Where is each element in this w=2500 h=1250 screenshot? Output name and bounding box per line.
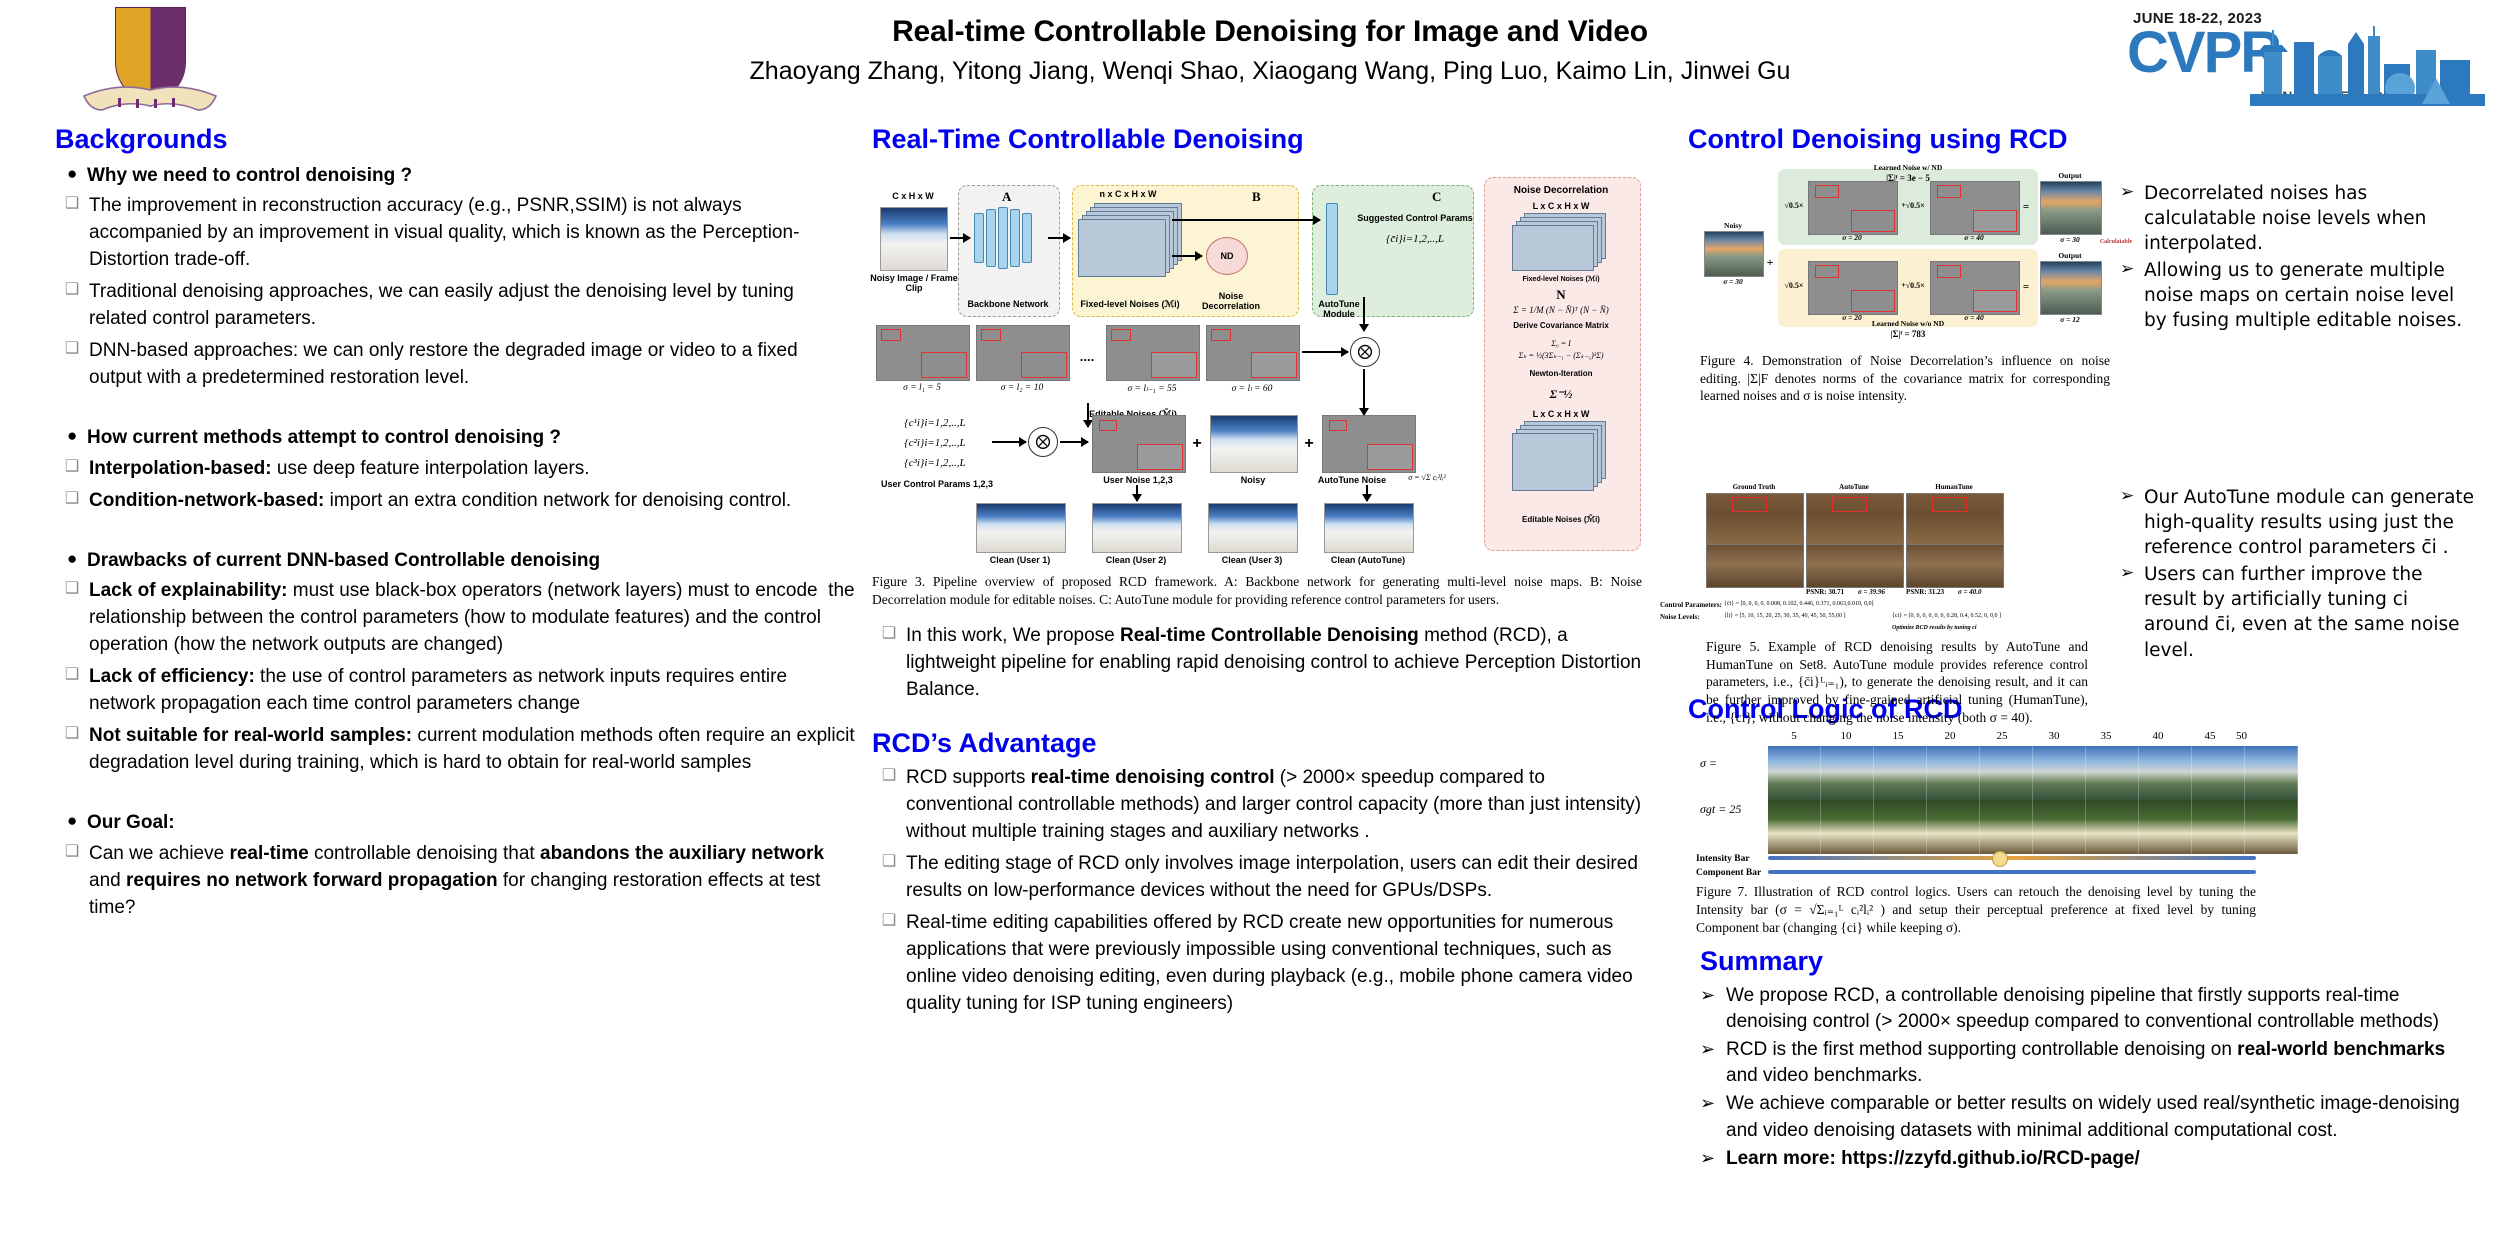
square-marker-icon: ❑ bbox=[55, 578, 89, 601]
decorr-input-stack-icon bbox=[1512, 213, 1612, 271]
item-bold-prefix: Lack of explainability: bbox=[89, 580, 288, 601]
noisy-label: Noisy bbox=[1210, 475, 1296, 485]
clean-output-3 bbox=[1208, 503, 1298, 553]
spacer bbox=[872, 608, 1642, 618]
arrow-noise-to-mult bbox=[1302, 351, 1348, 353]
noise-sample-3 bbox=[1106, 325, 1200, 381]
user-param-2: {c²i}i=1,2,..,L bbox=[880, 437, 990, 449]
fig5-psnr-humantune: PSNR: 31.23 bbox=[1906, 588, 1944, 596]
plus-icon-2: + bbox=[1302, 435, 1316, 453]
fixed-noise-label: Fixed-level Noises (ℳi) bbox=[1070, 299, 1190, 310]
fig5-tractor-gt bbox=[1706, 493, 1804, 545]
figure-4-noise-decorrelation: Learned Noise w/ ND |Σ|ᶠ = 3e − 5 Learne… bbox=[1700, 161, 2130, 339]
list-item-text: In this work, We propose Real-time Contr… bbox=[906, 623, 1642, 704]
cvpr-logo: JUNE 18-22, 2023 CVPR VANCOUVER, CANADA bbox=[2125, 8, 2485, 118]
fig7-mush-cell bbox=[1874, 800, 1927, 854]
fig7-tick-7: 40 bbox=[2132, 730, 2184, 742]
fig7-sigma-label: σ = bbox=[1700, 756, 1717, 771]
section-heading-advantage: RCD’s Advantage bbox=[872, 729, 1642, 759]
noise-sample-2 bbox=[976, 325, 1070, 381]
fig4-sigma40-top: σ = 40 bbox=[1930, 233, 2018, 242]
title-block: Real-time Controllable Denoising for Ima… bbox=[560, 14, 1980, 87]
list-item-text: Decorrelated noises has calculatable noi… bbox=[2144, 181, 2476, 256]
fig5-control-params-value: {c̄i} = [0, 0, 0, 0, 0.008, 0.102, 0.446… bbox=[1724, 601, 1873, 607]
arrow-mult-down bbox=[1363, 369, 1365, 415]
fig4-output-label-bottom: Output bbox=[2040, 251, 2100, 260]
intensity-slider-track[interactable] bbox=[1768, 856, 2256, 860]
arrow-user-to-clean bbox=[1136, 485, 1138, 501]
fig5-human-params-value: {ci} = [0, 0, 0, 0, 0, 0, 0.28, 0.4, 0.5… bbox=[1892, 613, 2001, 619]
list-item-text: Our AutoTune module can generate high-qu… bbox=[2144, 485, 2476, 560]
cuhk-crest-logo bbox=[58, 4, 243, 119]
decorr-step-4: Σ₀ = I bbox=[1486, 339, 1636, 348]
clean-label-2: Clean (User 2) bbox=[1092, 555, 1180, 565]
list-item: ❑ RCD supports real-time denoising contr… bbox=[872, 765, 1642, 846]
input-dim-label: C x H x W bbox=[878, 191, 948, 201]
fig4-coef-right-bottom: +√0.5× bbox=[1896, 281, 1930, 290]
goal-bold-2: abandons the auxiliary network bbox=[540, 843, 824, 864]
block-a-letter: A bbox=[1002, 189, 1011, 205]
list-item: ❑ Interpolation-based: use deep feature … bbox=[55, 456, 855, 483]
fig7-house-cell bbox=[2192, 746, 2245, 800]
section-heading-backgrounds: Backgrounds bbox=[55, 125, 855, 155]
page-title: Real-time Controllable Denoising for Ima… bbox=[560, 14, 1980, 50]
poster-root: Real-time Controllable Denoising for Ima… bbox=[0, 0, 2500, 1250]
list-item-text: Lack of efficiency: the use of control p… bbox=[89, 664, 855, 718]
sigma-label-2: σ = l₂ = 10 bbox=[976, 383, 1068, 393]
list-item-text: Condition-network-based: import an extra… bbox=[89, 488, 791, 515]
section-heading-control-denoising: Control Denoising using RCD bbox=[1688, 125, 2478, 155]
dot-marker-icon: ● bbox=[67, 548, 87, 571]
backbone-label: Backbone Network bbox=[960, 299, 1056, 309]
fig4-output-label-top: Output bbox=[2040, 171, 2100, 180]
figure4-and-notes: Learned Noise w/ ND |Σ|ᶠ = 3e − 5 Learne… bbox=[1688, 161, 2478, 481]
arrow-backbone-to-noise bbox=[1048, 237, 1070, 239]
decorr-dim: L x C x H x W bbox=[1486, 201, 1636, 211]
fig7-house-strip bbox=[1768, 746, 2298, 800]
multiply-icon-user: ⨂ bbox=[1028, 427, 1058, 457]
fig4-coef-left-top: √0.5× bbox=[1780, 201, 1808, 210]
figure-7-control-logic: σ = σgt = 25 5 10 15 20 25 30 35 40 45 5… bbox=[1696, 730, 2256, 878]
sigma-label-1: σ = l₁ = 5 bbox=[876, 383, 968, 393]
sigma-label-3: σ = lₗ₋₁ = 55 bbox=[1106, 383, 1198, 394]
bullet-lead: ● How current methods attempt to control… bbox=[67, 425, 855, 451]
bullet-lead-text: Our Goal: bbox=[87, 810, 175, 836]
item-bold-prefix: Condition-network-based: bbox=[89, 490, 324, 511]
fig7-mush-cell bbox=[1927, 800, 1980, 854]
dot-marker-icon: ● bbox=[67, 810, 87, 833]
fig4-plus-icon: + bbox=[1764, 255, 1776, 270]
fig5-crop-autotune bbox=[1806, 544, 1904, 588]
arrow-marker-icon: ➢ bbox=[2120, 485, 2144, 508]
fig5-noise-levels-label: Noise Levels: bbox=[1660, 613, 1699, 621]
list-item: ➢ Our AutoTune module can generate high-… bbox=[2120, 485, 2476, 560]
decorr-step-0: Fixed-level Noises (ℳi) bbox=[1486, 275, 1636, 283]
fig4-output-bottom bbox=[2040, 261, 2102, 315]
input-label: Noisy Image / Frame Clip bbox=[868, 273, 960, 293]
list-item: ➢ We propose RCD, a controllable denoisi… bbox=[1700, 983, 2478, 1035]
list-item: ❑ Traditional denoising approaches, we c… bbox=[55, 279, 855, 333]
square-marker-icon: ❑ bbox=[55, 723, 89, 746]
fig4-sigma20-top: σ = 20 bbox=[1808, 233, 1896, 242]
square-marker-icon: ❑ bbox=[55, 338, 89, 361]
nd-circle-icon: ND bbox=[1206, 237, 1248, 275]
fig7-mush-cell bbox=[1821, 800, 1874, 854]
list-item-text: Traditional denoising approaches, we can… bbox=[89, 279, 855, 333]
list-item-text: We propose RCD, a controllable denoising… bbox=[1726, 983, 2478, 1035]
list-item-text: The improvement in reconstruction accura… bbox=[89, 193, 855, 274]
noise-dim-label: n x C x H x W bbox=[1078, 189, 1178, 199]
list-item: ❑ Condition-network-based: import an ext… bbox=[55, 488, 855, 515]
goal-bold-1: real-time bbox=[229, 843, 308, 864]
arrow-autotune-to-clean bbox=[1366, 485, 1368, 501]
square-marker-icon: ❑ bbox=[55, 193, 89, 216]
arrow-editable-down bbox=[1087, 403, 1089, 427]
fig7-tick-4: 25 bbox=[1976, 730, 2028, 742]
arrow-mult-to-usernoise bbox=[1060, 441, 1088, 443]
figure-5-caption: Figure 5. Example of RCD denoising resul… bbox=[1706, 638, 2088, 727]
fig4-top-title: Learned Noise w/ ND bbox=[1778, 163, 2038, 172]
column-results: Control Denoising using RCD Learned Nois… bbox=[1688, 125, 2478, 1174]
square-marker-icon: ❑ bbox=[55, 456, 89, 479]
figure-4-caption: Figure 4. Demonstration of Noise Decorre… bbox=[1700, 352, 2110, 405]
arrow-marker-icon: ➢ bbox=[1700, 1146, 1726, 1171]
fig7-mush-cell bbox=[2192, 800, 2245, 854]
decorr-output-stack-icon bbox=[1512, 421, 1612, 493]
bullet-lead: ● Drawbacks of current DNN-based Control… bbox=[67, 548, 855, 574]
fig5-psnr-autotune: PSNR: 30.71 bbox=[1806, 588, 1844, 596]
arrow-marker-icon: ➢ bbox=[2120, 258, 2144, 281]
fig4-coef-left-bottom: √0.5× bbox=[1780, 281, 1808, 290]
fig4-coef-right-top: +√0.5× bbox=[1896, 201, 1930, 210]
fig7-house-cell bbox=[2086, 746, 2139, 800]
backbone-network-icon bbox=[972, 207, 1042, 269]
decorr-step-5: Σₖ = ½(3Σₖ₋₁ − (Σₖ₋₁)³Σ) bbox=[1482, 351, 1640, 360]
list-item: ❑ Lack of explainability: must use black… bbox=[55, 578, 855, 659]
fig5-col-label-2: AutoTune bbox=[1806, 483, 1902, 491]
fixed-noise-stack-icon bbox=[1078, 203, 1188, 275]
item-bold-prefix: Interpolation-based: bbox=[89, 458, 272, 479]
bullet-lead: ● Our Goal: bbox=[67, 810, 855, 836]
bullet-lead: ● Why we need to control denoising ? bbox=[67, 163, 855, 189]
list-item-text: DNN-based approaches: we can only restor… bbox=[89, 338, 855, 392]
fig4-output-top bbox=[2040, 181, 2102, 235]
fig7-tick-2: 15 bbox=[1872, 730, 1924, 742]
fig7-house-cell bbox=[2245, 746, 2298, 800]
goal-bold-3: requires no network forward propagation bbox=[126, 870, 498, 891]
decorr-step-8: L x C x H x W bbox=[1486, 409, 1636, 419]
list-item-learn-more[interactable]: ➢ Learn more: https://zzyfd.github.io/RC… bbox=[1700, 1146, 2478, 1172]
decorr-step-3: Derive Covariance Matrix bbox=[1486, 321, 1636, 330]
fig5-control-params-label: Control Parameters: bbox=[1660, 601, 1722, 609]
user-param-3: {c³i}i=1,2,..,L bbox=[880, 457, 990, 469]
autotune-module-icon bbox=[1324, 203, 1344, 295]
clean-output-autotune bbox=[1324, 503, 1414, 553]
fig7-tick-6: 35 bbox=[2080, 730, 2132, 742]
spacer bbox=[55, 397, 855, 417]
list-item: ❑ Lack of efficiency: the use of control… bbox=[55, 664, 855, 718]
clean-label-1: Clean (User 1) bbox=[976, 555, 1064, 565]
clean-label-3: Clean (User 3) bbox=[1208, 555, 1296, 565]
fig5-col-label-3: HumanTune bbox=[1906, 483, 2002, 491]
fig5-col-label-1: Ground Truth bbox=[1706, 483, 1802, 491]
noise-sample-4 bbox=[1206, 325, 1300, 381]
square-marker-icon: ❑ bbox=[872, 623, 906, 646]
decorr-step-7: Σ⁻½ bbox=[1486, 387, 1636, 402]
list-item: ❑ In this work, We propose Real-time Con… bbox=[872, 623, 1642, 704]
fig7-tick-0: 5 bbox=[1768, 730, 1820, 742]
intensity-slider-knob[interactable] bbox=[1992, 851, 2008, 867]
block-c-letter: C bbox=[1432, 189, 1441, 205]
fig5-crop-humantune bbox=[1906, 544, 2004, 588]
list-item-text: RCD is the first method supporting contr… bbox=[1726, 1037, 2478, 1089]
fig7-house-cell bbox=[1821, 746, 1874, 800]
dot-marker-icon: ● bbox=[67, 163, 87, 186]
ellipsis-label: .... bbox=[1070, 349, 1104, 364]
arrow-marker-icon: ➢ bbox=[1700, 1091, 1726, 1116]
suggested-params-label: Suggested Control Params bbox=[1356, 213, 1474, 223]
list-item: ➢ Allowing us to generate multiple noise… bbox=[2120, 258, 2476, 333]
figure-3-pipeline: A B C C x H x W Noisy Image / Frame Clip… bbox=[872, 163, 1642, 568]
fig5-optimize-note: Optimize RCD results by tuning ci bbox=[1892, 625, 1977, 631]
noise-sample-1 bbox=[876, 325, 970, 381]
fig4-noisy-sigma: σ = 30 bbox=[1704, 277, 1762, 286]
section-heading-rtcd: Real-Time Controllable Denoising bbox=[872, 125, 1642, 155]
clean-output-1 bbox=[976, 503, 1066, 553]
decorr-step-2: Σ = 1/M (N − N̄)ᵀ (N − N̄) bbox=[1482, 305, 1640, 315]
list-item-text: Users can further improve the result by … bbox=[2144, 562, 2476, 663]
arrow-marker-icon: ➢ bbox=[2120, 562, 2144, 585]
decorr-step-9: Editable Noises (ℳ̃i) bbox=[1486, 515, 1636, 524]
intro-bold: Real-time Controllable Denoising bbox=[1120, 625, 1419, 646]
fig4-out-top-sigma: σ = 30 bbox=[2040, 235, 2100, 244]
notes-decorrelation: ➢ Decorrelated noises has calculatable n… bbox=[2120, 179, 2476, 336]
fig7-mush-cell bbox=[2033, 800, 2086, 854]
arrow-autotune-down bbox=[1363, 297, 1365, 331]
fig4-noisy-input bbox=[1704, 231, 1764, 277]
fig7-mush-cell bbox=[1768, 800, 1821, 854]
notes-autotune: ➢ Our AutoTune module can generate high-… bbox=[2120, 483, 2476, 665]
figure5-and-notes: Ground Truth AutoTune HumanTune PSNR: 30… bbox=[1688, 483, 2478, 701]
user-noise-label: User Noise 1,2,3 bbox=[1092, 475, 1184, 485]
fig7-mush-cell bbox=[2139, 800, 2192, 854]
item-bold-prefix: Not suitable for real-world samples: bbox=[89, 725, 412, 746]
list-item-text: Interpolation-based: use deep feature in… bbox=[89, 456, 590, 483]
fig7-mushroom-strip bbox=[1768, 800, 2298, 854]
fig4-bottom-norm: |Σ|ᶠ = 783 bbox=[1778, 329, 2038, 339]
list-item: ➢ Users can further improve the result b… bbox=[2120, 562, 2476, 663]
fig7-component-bar-label: Component Bar bbox=[1696, 868, 1761, 878]
dot-marker-icon: ● bbox=[67, 425, 87, 448]
fig7-sigma-gt-label: σgt = 25 bbox=[1700, 802, 1741, 817]
column-backgrounds: Backgrounds ● Why we need to control den… bbox=[55, 125, 855, 927]
fig5-crop-gt bbox=[1706, 544, 1804, 588]
fig5-noise-levels-value: {li} = [5, 10, 15, 20, 25, 30, 35, 40, 4… bbox=[1724, 613, 1845, 619]
block-b-letter: B bbox=[1252, 189, 1261, 205]
fig7-tick-9: 50 bbox=[2236, 730, 2256, 742]
bullet-lead-text: How current methods attempt to control d… bbox=[87, 425, 561, 451]
poster-header: Real-time Controllable Denoising for Ima… bbox=[0, 0, 2500, 125]
fig7-house-cell bbox=[1980, 746, 2033, 800]
fig4-equals-top: = bbox=[2020, 201, 2032, 213]
list-item-text: Can we achieve real-time controllable de… bbox=[89, 841, 855, 922]
fig7-tick-5: 30 bbox=[2028, 730, 2080, 742]
fig5-sigma-autotune: σ = 39.96 bbox=[1858, 588, 1885, 596]
autotune-noise-thumbnail bbox=[1322, 415, 1416, 473]
square-marker-icon: ❑ bbox=[872, 851, 906, 874]
multiply-icon-top: ⨂ bbox=[1350, 337, 1380, 367]
fig7-house-cell bbox=[1768, 746, 1821, 800]
figure-3-caption: Figure 3. Pipeline overview of proposed … bbox=[872, 573, 1642, 609]
arrow-marker-icon: ➢ bbox=[2120, 181, 2144, 204]
noisy-thumbnail bbox=[1210, 415, 1298, 473]
fig7-house-cell bbox=[2139, 746, 2192, 800]
list-item: ➢ RCD is the first method supporting con… bbox=[1700, 1037, 2478, 1089]
fig7-tick-3: 20 bbox=[1924, 730, 1976, 742]
list-item-text: Real-time editing capabilities offered b… bbox=[906, 910, 1642, 1018]
square-marker-icon: ❑ bbox=[55, 488, 89, 511]
fig4-out-bottom-sigma: σ = 12 bbox=[2040, 315, 2100, 324]
fig4-noise-top-2 bbox=[1930, 181, 2020, 235]
decorr-step-6: Newton-Iteration bbox=[1486, 369, 1636, 378]
square-marker-icon: ❑ bbox=[872, 765, 906, 788]
list-item-text: RCD supports real-time denoising control… bbox=[906, 765, 1642, 846]
fig7-house-cell bbox=[1874, 746, 1927, 800]
arrow-input-to-backbone bbox=[950, 237, 970, 239]
autotune-noise-label: AutoTune Noise bbox=[1312, 475, 1392, 485]
fig5-tractor-autotune bbox=[1806, 493, 1904, 545]
figure-7-caption: Figure 7. Illustration of RCD control lo… bbox=[1696, 883, 2256, 936]
list-item-text: The editing stage of RCD only involves i… bbox=[906, 851, 1642, 905]
fig4-noise-bottom-1 bbox=[1808, 261, 1898, 315]
user-params-caption: User Control Params 1,2,3 bbox=[872, 479, 1002, 489]
fig5-tractor-humantune bbox=[1906, 493, 2004, 545]
arrow-marker-icon: ➢ bbox=[1700, 983, 1726, 1008]
suggested-params-math: {c̄i}i=1,2,..,L bbox=[1356, 233, 1474, 245]
user-noise-thumbnail bbox=[1092, 415, 1186, 473]
fig4-noise-top-1 bbox=[1808, 181, 1898, 235]
clean-output-2 bbox=[1092, 503, 1182, 553]
autotune-sigma-formula: σ = √Σ cᵢ²lᵢ² bbox=[1392, 473, 1462, 482]
fig4-sigma20-bottom: σ = 20 bbox=[1808, 313, 1896, 322]
vancouver-skyline-icon bbox=[2250, 26, 2485, 111]
fig7-mush-cell bbox=[2245, 800, 2298, 854]
list-item: ❑ DNN-based approaches: we can only rest… bbox=[55, 338, 855, 392]
arrow-noise-to-nd bbox=[1172, 255, 1202, 257]
square-marker-icon: ❑ bbox=[872, 910, 906, 933]
component-slider-track[interactable] bbox=[1768, 870, 2256, 874]
list-item: ❑ The editing stage of RCD only involves… bbox=[872, 851, 1642, 905]
fig4-sigma40-bottom: σ = 40 bbox=[1930, 313, 2018, 322]
item-bold-prefix: Lack of efficiency: bbox=[89, 666, 255, 687]
list-item: ➢ We achieve comparable or better result… bbox=[1700, 1091, 2478, 1143]
project-page-link[interactable]: Learn more: https://zzyfd.github.io/RCD-… bbox=[1726, 1146, 2140, 1172]
fig7-mush-cell bbox=[2086, 800, 2139, 854]
fig4-noise-bottom-2 bbox=[1930, 261, 2020, 315]
bullet-lead-text: Why we need to control denoising ? bbox=[87, 163, 412, 189]
clean-label-4: Clean (AutoTune) bbox=[1324, 555, 1412, 565]
sigma-label-4: σ = lₗ = 60 bbox=[1206, 383, 1298, 394]
square-marker-icon: ❑ bbox=[55, 279, 89, 302]
bullet-lead-text: Drawbacks of current DNN-based Controlla… bbox=[87, 548, 600, 574]
fig7-intensity-bar-label: Intensity Bar bbox=[1696, 854, 1750, 864]
spacer bbox=[872, 709, 1642, 729]
plus-icon-1: + bbox=[1190, 435, 1204, 453]
user-param-1: {c¹i}i=1,2,..,L bbox=[880, 417, 990, 429]
advantage-bold: real-time denoising control bbox=[1031, 767, 1275, 788]
summary-list: ➢ We propose RCD, a controllable denoisi… bbox=[1700, 983, 2478, 1173]
list-item: ❑ Real-time editing capabilities offered… bbox=[872, 910, 1642, 1018]
summary-bold-1: real-world benchmarks bbox=[2237, 1039, 2445, 1060]
input-thumbnail bbox=[880, 207, 948, 271]
spacer bbox=[55, 520, 855, 540]
fig4-equals-bottom: = bbox=[2020, 281, 2032, 293]
list-item-text: Allowing us to generate multiple noise m… bbox=[2144, 258, 2476, 333]
spacer bbox=[55, 782, 855, 802]
section-heading-summary: Summary bbox=[1700, 947, 2478, 977]
list-item: ❑ Not suitable for real-world samples: c… bbox=[55, 723, 855, 777]
list-item: ❑ The improvement in reconstruction accu… bbox=[55, 193, 855, 274]
list-item-text: Lack of explainability: must use black-b… bbox=[89, 578, 855, 659]
fig5-sigma-humantune: σ = 40.0 bbox=[1958, 588, 1982, 596]
list-item-text: We achieve comparable or better results … bbox=[1726, 1091, 2478, 1143]
arrow-marker-icon: ➢ bbox=[1700, 1037, 1726, 1062]
fig7-house-cell bbox=[2033, 746, 2086, 800]
fig7-tick-8: 45 bbox=[2184, 730, 2236, 742]
fig7-mush-cell bbox=[1980, 800, 2033, 854]
square-marker-icon: ❑ bbox=[55, 664, 89, 687]
arrow-noise-to-autotune bbox=[1172, 219, 1320, 221]
fig7-tick-1: 10 bbox=[1820, 730, 1872, 742]
fig4-noisy-label: Noisy bbox=[1704, 221, 1762, 230]
author-list: Zhaoyang Zhang, Yitong Jiang, Wenqi Shao… bbox=[560, 56, 1980, 87]
fig7-house-cell bbox=[1927, 746, 1980, 800]
decorr-title: Noise Decorrelation bbox=[1486, 185, 1636, 196]
nd-caption: Noise Decorrelation bbox=[1196, 291, 1266, 311]
square-marker-icon: ❑ bbox=[55, 841, 89, 864]
decorr-step-1: N bbox=[1486, 287, 1636, 303]
arrow-params-to-mult bbox=[992, 441, 1026, 443]
column-method: Real-Time Controllable Denoising A B C C… bbox=[872, 125, 1642, 1023]
list-item: ❑ Can we achieve real-time controllable … bbox=[55, 841, 855, 922]
list-item: ➢ Decorrelated noises has calculatable n… bbox=[2120, 181, 2476, 256]
list-item-text: Not suitable for real-world samples: cur… bbox=[89, 723, 855, 777]
